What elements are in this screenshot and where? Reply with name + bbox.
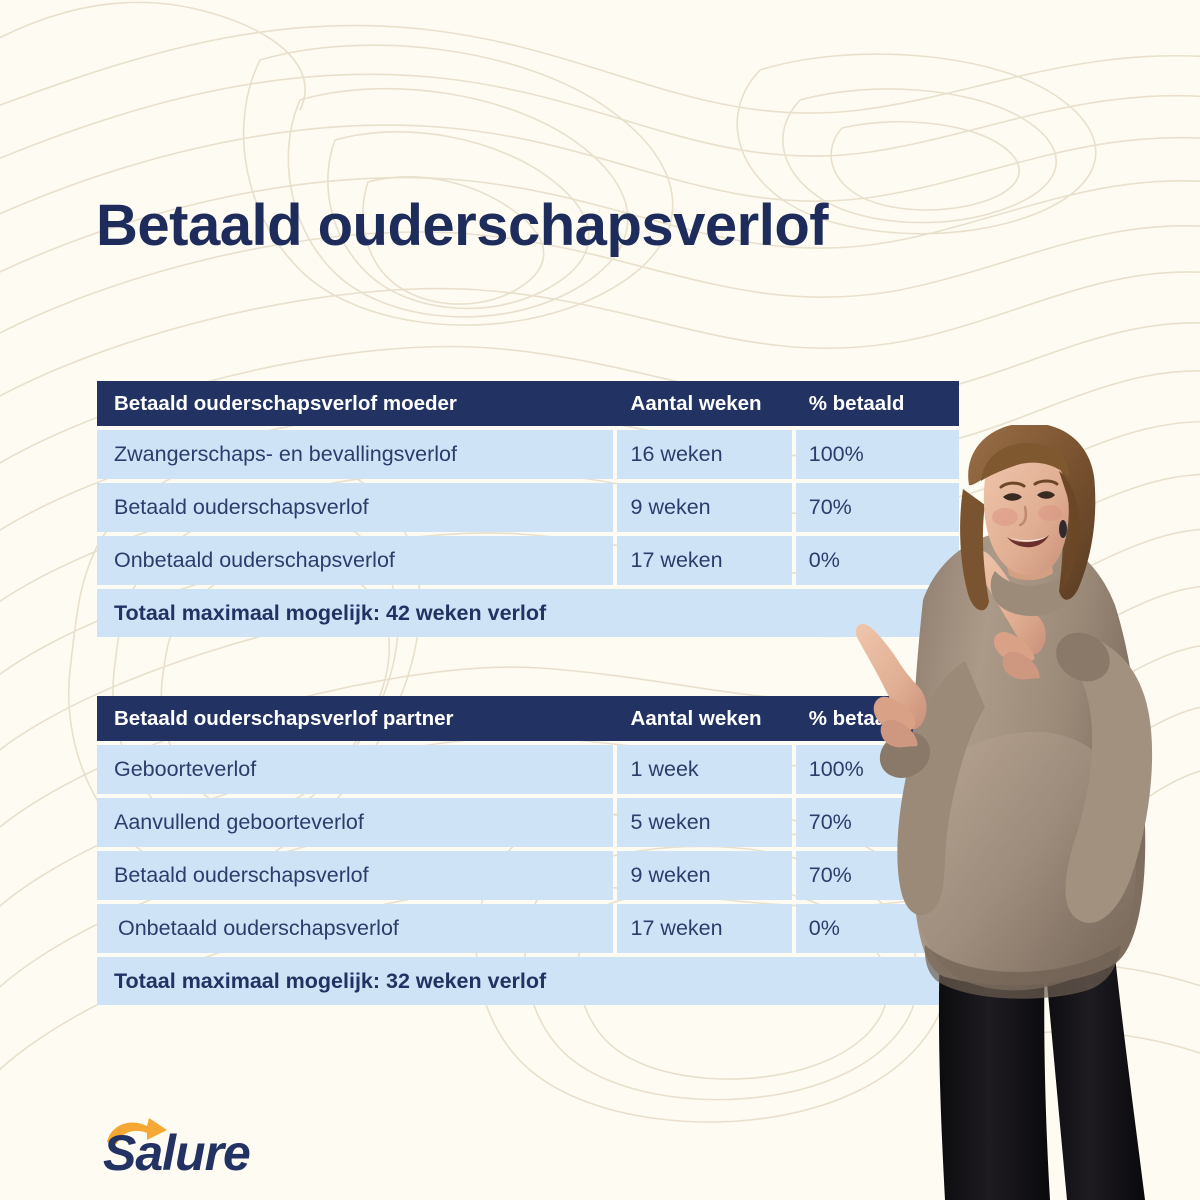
table-header-row: Betaald ouderschapsverlof moeder Aantal … (97, 381, 959, 426)
cell-weeks: 16 weken (617, 430, 792, 479)
table-header-row: Betaald ouderschapsverlof partner Aantal… (97, 696, 959, 741)
salure-logo[interactable]: Salure (97, 1108, 327, 1180)
cell-category: Zwangerschaps- en bevallingsverlof (97, 430, 613, 479)
cell-category: Betaald ouderschapsverlof (97, 483, 613, 532)
table-row: Aanvullend geboorteverlof 5 weken 70% (97, 798, 959, 847)
column-header-paid: % betaald (796, 381, 959, 426)
table-total-row: Totaal maximaal mogelijk: 32 weken verlo… (97, 957, 959, 1005)
table-row: Betaald ouderschapsverlof 9 weken 70% (97, 851, 959, 900)
salure-logo-text: Salure (103, 1124, 250, 1182)
table-betaald-ouderschapsverlof-partner: Betaald ouderschapsverlof partner Aantal… (97, 696, 959, 1005)
cell-category: Onbetaald ouderschapsverlof (97, 904, 613, 953)
table-row: Betaald ouderschapsverlof 9 weken 70% (97, 483, 959, 532)
cell-category: Betaald ouderschapsverlof (97, 851, 613, 900)
table-row: Onbetaald ouderschapsverlof 17 weken 0% (97, 904, 959, 953)
cell-weeks: 9 weken (617, 851, 792, 900)
column-header-weeks: Aantal weken (617, 381, 792, 426)
table-betaald-ouderschapsverlof-moeder: Betaald ouderschapsverlof moeder Aantal … (97, 381, 959, 637)
table-row: Zwangerschaps- en bevallingsverlof 16 we… (97, 430, 959, 479)
infographic-canvas: Betaald ouderschapsverlof Betaald ouders… (0, 0, 1200, 1200)
table-total-row: Totaal maximaal mogelijk: 42 weken verlo… (97, 589, 959, 637)
column-header-category: Betaald ouderschapsverlof partner (97, 696, 613, 741)
column-header-category: Betaald ouderschapsverlof moeder (97, 381, 613, 426)
cell-weeks: 1 week (617, 745, 792, 794)
table-row: Geboorteverlof 1 week 100% (97, 745, 959, 794)
cell-weeks: 17 weken (617, 536, 792, 585)
cell-category: Geboorteverlof (97, 745, 613, 794)
cell-weeks: 9 weken (617, 483, 792, 532)
page-title: Betaald ouderschapsverlof (96, 192, 828, 259)
cell-category: Onbetaald ouderschapsverlof (97, 536, 613, 585)
cell-weeks: 17 weken (617, 904, 792, 953)
pregnant-woman-pointing-photo (845, 425, 1200, 1200)
table-row: Onbetaald ouderschapsverlof 17 weken 0% (97, 536, 959, 585)
cell-category: Aanvullend geboorteverlof (97, 798, 613, 847)
cell-weeks: 5 weken (617, 798, 792, 847)
column-header-weeks: Aantal weken (617, 696, 792, 741)
